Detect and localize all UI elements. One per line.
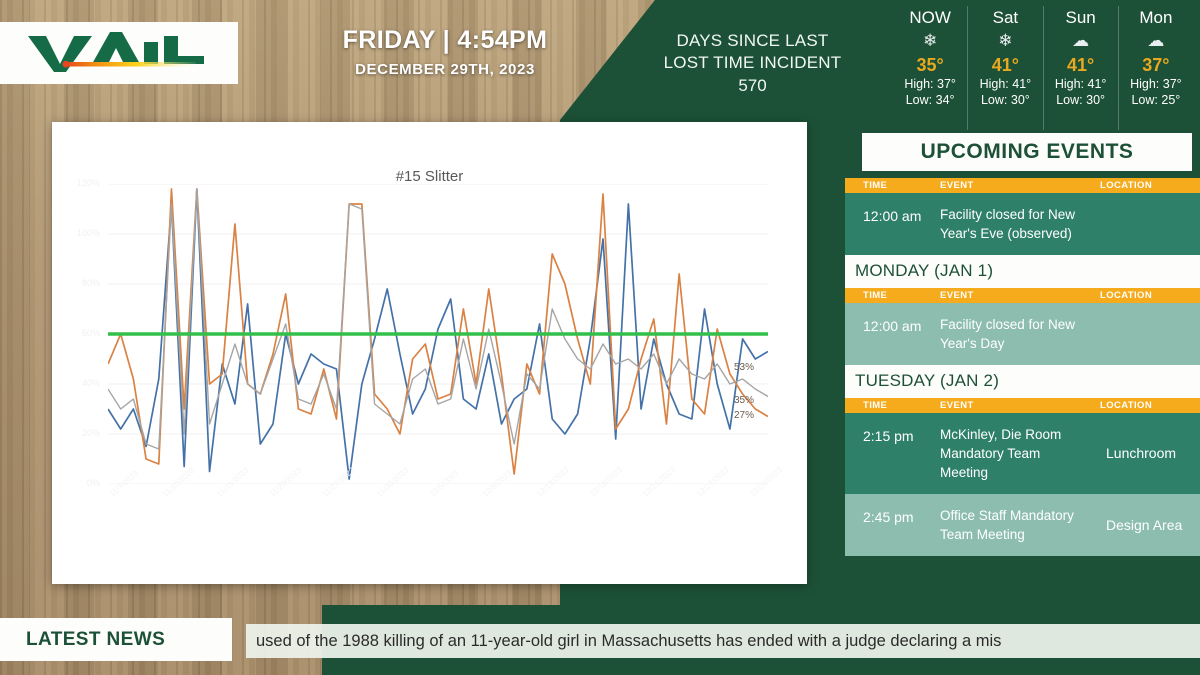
weather-high: High: 37° [893,76,967,92]
cloudy-icon: ☁ [1044,28,1118,54]
weather-current-temp: 41° [968,54,1042,76]
chart-plot-area [108,184,768,484]
events-column-header: TIMEEVENTLOCATION [845,178,1200,193]
event-time: 2:45 pm [845,494,940,556]
event-location [1100,193,1200,255]
weather-column-sat: Sat❄41°High: 41°Low: 30° [968,6,1043,130]
chart-title: #15 Slitter [52,168,807,185]
clock-block: FRIDAY | 4:54PM DECEMBER 29TH, 2023 [300,26,590,78]
event-row[interactable]: 12:00 amFacility closed for New Year's D… [845,303,1200,365]
chart-end-value-label: 27% [734,410,754,421]
event-row[interactable]: 2:45 pmOffice Staff Mandatory Team Meeti… [845,494,1200,556]
current-date: DECEMBER 29TH, 2023 [300,61,590,78]
weather-current-temp: 41° [1044,54,1118,76]
events-day-header: MONDAY (JAN 1) [845,255,1200,288]
event-title: Office Staff Mandatory Team Meeting [940,494,1100,556]
event-row[interactable]: 2:15 pmMcKinley, Die Room Mandatory Team… [845,413,1200,494]
weather-low: Low: 30° [1044,92,1118,108]
weather-column-mon: Mon☁37°High: 37°Low: 25° [1119,6,1193,130]
chart-y-tick-label: 40% [66,378,100,388]
news-ticker: used of the 1988 killing of an 11-year-o… [246,624,1200,658]
weather-current-temp: 35° [893,54,967,76]
chart-end-value-label: 35% [734,395,754,406]
events-title-plate: UPCOMING EVENTS [862,133,1192,171]
weather-high: High: 41° [968,76,1042,92]
event-location: Design Area [1100,494,1200,556]
event-time: 2:15 pm [845,413,940,494]
weather-day-label: Sun [1044,8,1118,28]
events-list[interactable]: TIMEEVENTLOCATION12:00 amFacility closed… [845,178,1200,578]
chart-y-tick-label: 0% [66,478,100,488]
weather-day-label: Sat [968,8,1042,28]
news-ticker-text: used of the 1988 killing of an 11-year-o… [246,632,1001,651]
event-title: Facility closed for New Year's Day [940,303,1100,365]
chart-y-tick-label: 100% [66,228,100,238]
snowflake-icon: ❄ [968,28,1042,54]
event-title: Facility closed for New Year's Eve (obse… [940,193,1100,255]
event-title: McKinley, Die Room Mandatory Team Meetin… [940,413,1100,494]
news-plate: LATEST NEWS [0,618,232,661]
logo-plate [0,22,238,84]
weather-high: High: 41° [1044,76,1118,92]
weather-day-label: NOW [893,8,967,28]
weather-column-now: NOW❄35°High: 37°Low: 34° [893,6,968,130]
cloudy-icon: ☁ [1119,28,1193,54]
weather-column-sun: Sun☁41°High: 41°Low: 30° [1044,6,1119,130]
chart-y-tick-label: 80% [66,278,100,288]
events-day-header: TUESDAY (JAN 2) [845,365,1200,398]
events-column-header: TIMEEVENTLOCATION [845,288,1200,303]
event-time: 12:00 am [845,303,940,365]
weather-high: High: 37° [1119,76,1193,92]
safety-line-1: DAYS SINCE LAST [620,30,885,52]
event-row[interactable]: 12:00 amFacility closed for New Year's E… [845,193,1200,255]
vail-logo-icon [24,30,214,76]
news-label: LATEST NEWS [0,629,165,651]
chart-y-tick-label: 20% [66,428,100,438]
weather-current-temp: 37° [1119,54,1193,76]
event-time: 12:00 am [845,193,940,255]
safety-days-count: 570 [620,74,885,98]
events-column-header: TIMEEVENTLOCATION [845,398,1200,413]
chart-end-value-label: 53% [734,362,754,373]
chart-y-tick-label: 60% [66,328,100,338]
current-time: FRIDAY | 4:54PM [300,26,590,55]
snowflake-icon: ❄ [893,28,967,54]
events-title: UPCOMING EVENTS [921,140,1134,164]
event-location: Lunchroom [1100,413,1200,494]
weather-low: Low: 30° [968,92,1042,108]
safety-counter: DAYS SINCE LAST LOST TIME INCIDENT 570 [620,30,885,98]
weather-low: Low: 34° [893,92,967,108]
weather-low: Low: 25° [1119,92,1193,108]
safety-line-2: LOST TIME INCIDENT [620,52,885,74]
weather-forecast: NOW❄35°High: 37°Low: 34°Sat❄41°High: 41°… [893,6,1193,130]
event-location [1100,303,1200,365]
chart-y-tick-label: 120% [66,178,100,188]
weather-day-label: Mon [1119,8,1193,28]
chart-svg [108,184,768,484]
chart-card: #15 Slitter 0%20%40%60%80%100%120%11/7/2… [52,122,807,584]
